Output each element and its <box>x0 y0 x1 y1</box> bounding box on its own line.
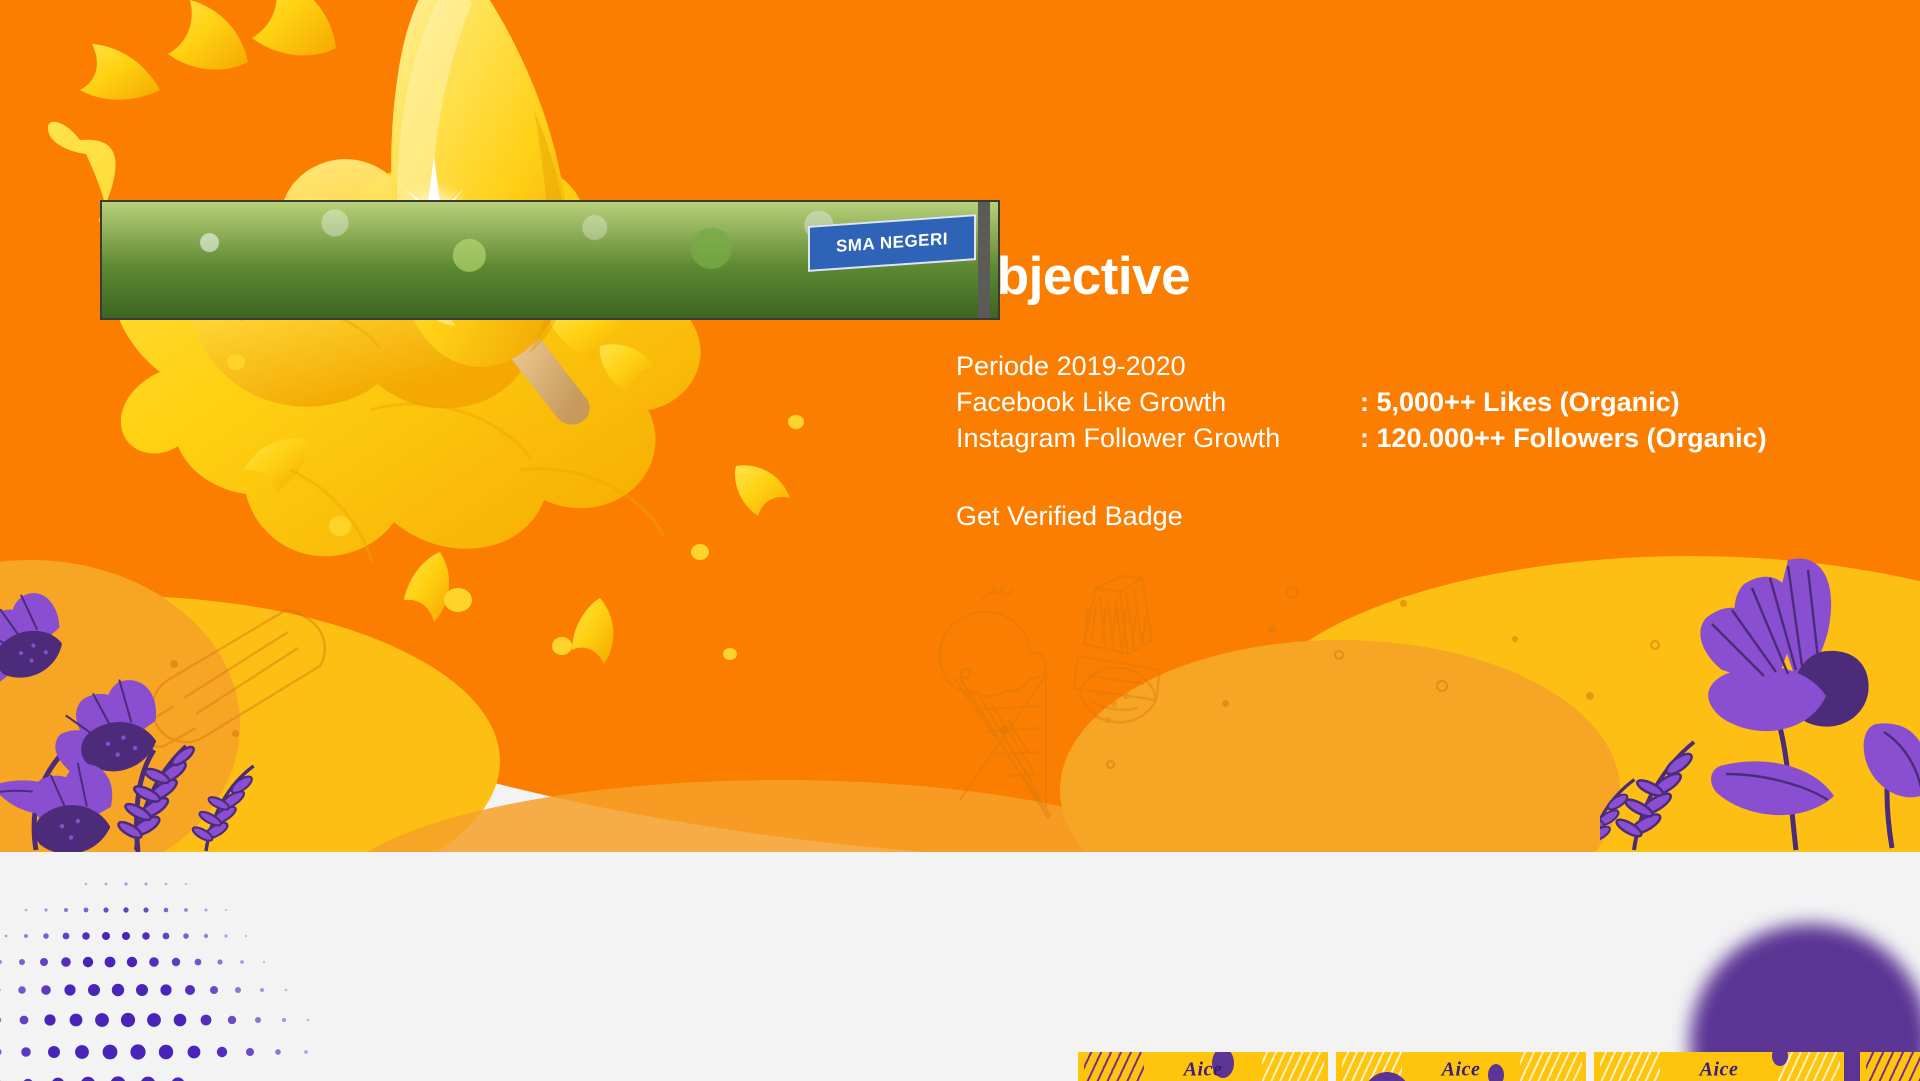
aice-banner-edge <box>1860 1052 1920 1081</box>
school-sign-text: SMA NEGERI <box>836 229 948 257</box>
aice-banner-strip: Aice ICE CREAM Aice ICE CREAM Aice ICE C… <box>1078 1052 1844 1081</box>
decor-dot <box>1222 700 1229 707</box>
decor-circle <box>1436 680 1448 692</box>
aice-logo: Aice ICE CREAM <box>1700 1060 1739 1081</box>
decor-dot <box>1268 625 1276 633</box>
decor-circle <box>960 668 971 679</box>
decor-dot <box>1400 600 1407 607</box>
slide-canvas: Objective Periode 2019-2020 Facebook Lik… <box>0 0 1920 1081</box>
aice-logo: Aice ICE CREAM <box>1442 1060 1481 1081</box>
verified-badge-text: Get Verified Badge <box>956 501 1856 532</box>
decor-circle <box>1334 650 1344 660</box>
metric-row: Facebook Like Growth : 5,000++ Likes (Or… <box>956 385 1856 421</box>
stripes-icon <box>1866 1052 1920 1081</box>
metric-label: Facebook Like Growth <box>956 385 1360 421</box>
aice-banner[interactable]: Aice ICE CREAM <box>1336 1052 1586 1081</box>
photo-post <box>978 202 990 320</box>
aice-wordmark: Aice <box>1442 1060 1481 1080</box>
period-label: Periode 2019-2020 <box>956 349 1186 385</box>
decor-circle <box>1286 586 1299 599</box>
school-event-photo[interactable]: SMA NEGERI <box>100 200 1000 320</box>
stripes-icon <box>1600 1052 1660 1081</box>
aice-logo: Aice ICE CREAM <box>1184 1060 1223 1081</box>
purple-ball-icon <box>1488 1064 1504 1081</box>
metric-value: : 5,000++ Likes (Organic) <box>1360 385 1680 421</box>
mango-popsicle-artwork <box>40 0 960 770</box>
decor-dot <box>1586 692 1594 700</box>
stripes-icon <box>1262 1052 1324 1081</box>
metric-label: Instagram Follower Growth <box>956 421 1360 457</box>
purple-flower-icon <box>1600 548 1920 852</box>
decor-dot <box>1000 726 1007 733</box>
stripes-icon <box>1520 1052 1582 1081</box>
metrics-list: Periode 2019-2020 Facebook Like Growth :… <box>956 349 1856 457</box>
metric-value: : 120.000++ Followers (Organic) <box>1360 421 1767 457</box>
aice-wordmark: Aice <box>1700 1060 1739 1080</box>
stripes-icon <box>1084 1052 1144 1081</box>
halftone-dots-pattern <box>0 870 410 1081</box>
aice-wordmark: Aice <box>1184 1060 1223 1080</box>
aice-banner[interactable]: Aice ICE CREAM <box>1078 1052 1328 1081</box>
decor-circle <box>1106 760 1115 769</box>
ice-cream-cup-icon <box>1060 570 1240 760</box>
lower-section <box>0 852 1920 1081</box>
period-row: Periode 2019-2020 <box>956 349 1856 385</box>
aice-banner[interactable]: Aice ICE CREAM <box>1594 1052 1844 1081</box>
metric-row: Instagram Follower Growth : 120.000++ Fo… <box>956 421 1856 457</box>
objective-copy-block: Objective Periode 2019-2020 Facebook Lik… <box>956 250 1856 532</box>
page-title: Objective <box>956 250 1856 303</box>
hero-section: Objective Periode 2019-2020 Facebook Lik… <box>0 0 1920 852</box>
decor-dot <box>1512 636 1518 642</box>
